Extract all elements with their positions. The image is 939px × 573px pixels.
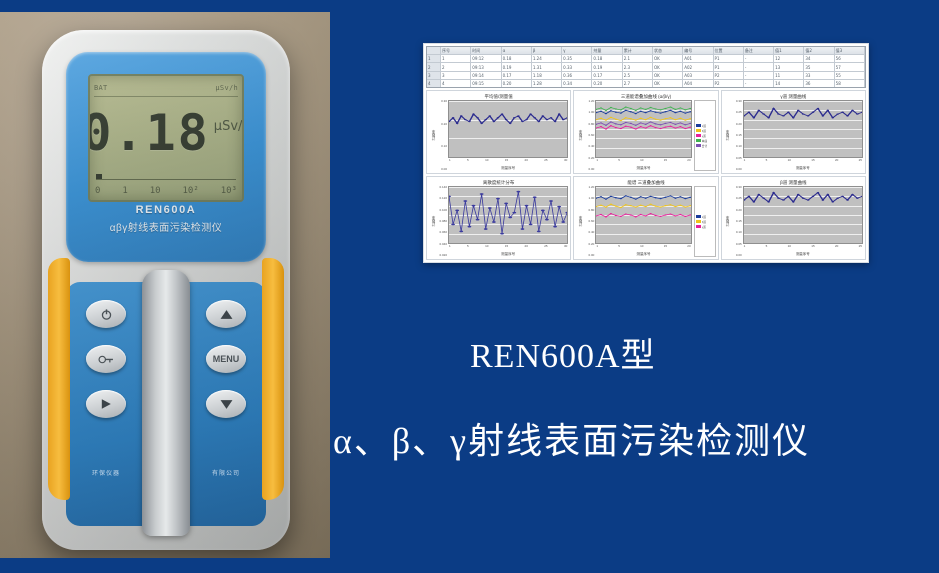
table-cell[interactable]: OK <box>653 80 683 87</box>
chart-data-point <box>605 216 607 217</box>
chart-data-point <box>660 206 662 207</box>
table-cell[interactable]: 58 <box>835 80 865 87</box>
chart-legend-item: β道 <box>696 220 714 224</box>
lcd-reading: 0.18 μSv/h <box>90 96 242 170</box>
chart-data-point <box>650 125 652 126</box>
chart-data-point <box>630 111 632 112</box>
chart-legend-label: β道 <box>702 220 706 224</box>
chart-y-tick: 0.30 <box>736 100 742 103</box>
chart-legend-label: α道 <box>702 215 706 219</box>
chart-data-point <box>484 119 487 120</box>
table-row-header: 1 <box>427 55 441 62</box>
chart-data-point <box>831 201 834 202</box>
chart-x-ticks: 1510152025 <box>743 158 863 165</box>
chart-gridline <box>744 157 862 158</box>
chart-y-tick: 0.80 <box>588 209 594 212</box>
chart-y-tick: 0.40 <box>588 145 594 148</box>
table-cell[interactable]: 1.24 <box>532 55 562 62</box>
chart-y-tick: 0.25 <box>736 197 742 200</box>
chart-data-point <box>468 121 471 122</box>
table-cell[interactable]: P2 <box>714 80 744 87</box>
page-title-model: REN600A型 <box>470 328 910 377</box>
chart-series-line <box>596 204 690 207</box>
chart-data-point <box>655 206 657 207</box>
chart-y-tick: 0.100 <box>439 209 447 212</box>
chart-y-ticks: 0.300.250.200.150.100.050.00 <box>730 186 743 257</box>
chart-data-point <box>675 112 677 113</box>
table-cell[interactable]: 1.18 <box>532 72 562 79</box>
chart-data-point <box>777 198 780 199</box>
chart-data-point <box>480 193 484 195</box>
chart-data-point <box>782 199 785 200</box>
chart-data-point <box>660 128 662 129</box>
chart-data-point <box>675 119 677 120</box>
table-column-header[interactable]: 备注 <box>744 47 774 54</box>
chart-data-point <box>747 196 750 197</box>
table-column-header[interactable]: 编号 <box>683 47 713 54</box>
table-row[interactable]: 3309:140.171.180.360.172.5OKA03P2-113355 <box>427 72 865 80</box>
chart-data-point <box>456 123 459 124</box>
chart-x-axis-label: 测量序号 <box>595 251 691 257</box>
chart-data-point <box>630 123 632 124</box>
table-cell[interactable]: 0.17 <box>502 72 532 79</box>
chart-data-point <box>620 124 622 125</box>
product-photo: BAT μSv/h 0.18 μSv/h 011010²10³ REN600A … <box>0 12 330 558</box>
chart-title: β道 测量曲线 <box>724 179 863 186</box>
chart-data-point <box>488 115 491 116</box>
chart-legend-item: β道 <box>696 129 714 133</box>
table-cell[interactable]: 1 <box>441 55 471 62</box>
data-table[interactable]: 序号时间αβγ剂量累计状态编号位置备注值1值2值31109:120.181.24… <box>426 46 866 88</box>
detector-device: BAT μSv/h 0.18 μSv/h 011010²10³ REN600A … <box>42 30 290 550</box>
chart-data-point <box>517 115 520 116</box>
table-column-header[interactable]: 值3 <box>835 47 865 54</box>
table-cell[interactable]: 09:15 <box>471 80 501 87</box>
chart-legend-label: γ道 <box>702 225 706 229</box>
table-cell[interactable]: A02 <box>683 63 713 70</box>
chart-x-tick: 1 <box>596 244 598 251</box>
chart-data-point <box>811 112 814 113</box>
chart-x-ticks: 151015202530 <box>448 158 568 165</box>
chart-x-ticks: 151015202530 <box>448 244 568 251</box>
chart-y-tick: 0.20 <box>441 123 447 126</box>
chart-data-point <box>640 214 642 215</box>
chart-x-tick: 30 <box>564 158 567 165</box>
chart-legend-swatch <box>696 220 701 223</box>
chart-data-point <box>620 113 622 114</box>
table-cell[interactable]: 35 <box>804 63 834 70</box>
device-description-label: αβγ射线表面污染检测仪 <box>66 219 266 234</box>
table-cell[interactable]: 0.19 <box>502 63 532 70</box>
chart-data-point <box>620 198 622 199</box>
chart-data-point <box>610 204 612 205</box>
chart-plot-wrap: 151015202530测量序号 <box>448 100 568 171</box>
table-cell[interactable]: 2.3 <box>623 63 653 70</box>
chart-data-point <box>680 205 682 206</box>
table-column-header[interactable]: 位置 <box>714 47 744 54</box>
table-cell[interactable]: 34 <box>804 55 834 62</box>
table-cell[interactable]: 0.18 <box>592 55 622 62</box>
chart-x-tick: 20 <box>835 244 838 251</box>
chart-data-point <box>787 112 790 113</box>
table-column-header[interactable]: 时间 <box>471 47 501 54</box>
lcd-scale-tick: 10² <box>183 186 199 196</box>
table-header-row: 序号时间αβγ剂量累计状态编号位置备注值1值2值3 <box>427 47 865 55</box>
table-column-header[interactable]: 序号 <box>441 47 471 54</box>
table-cell[interactable]: 2.7 <box>623 80 653 87</box>
chart-panel[interactable]: 平均值/测量值计数率0.300.200.100.00151015202530测量… <box>426 90 571 174</box>
chart-data-point <box>630 197 632 198</box>
chart-y-tick: 0.00 <box>736 254 742 257</box>
chart-data-point <box>600 196 602 197</box>
lcd-scale-tick: 10 <box>150 186 161 196</box>
table-cell[interactable]: P2 <box>714 72 744 79</box>
chart-data-point <box>665 127 667 128</box>
chart-legend-swatch <box>696 124 701 127</box>
chart-gridline <box>744 243 862 244</box>
table-cell[interactable]: 57 <box>835 63 865 70</box>
chart-data-point <box>792 201 795 202</box>
chart-x-tick: 1 <box>596 158 598 165</box>
table-cell[interactable]: 36 <box>804 80 834 87</box>
chart-data-point <box>851 194 854 195</box>
table-cell[interactable]: - <box>744 80 774 87</box>
chart-y-tick: 0.60 <box>588 220 594 223</box>
table-cell[interactable]: 3 <box>441 72 471 79</box>
chart-data-point <box>747 112 750 113</box>
keypad: MENU <box>66 298 266 428</box>
chart-data-point <box>655 108 657 109</box>
table-cell[interactable]: 0.35 <box>562 55 592 62</box>
chart-y-tick: 1.00 <box>588 197 594 200</box>
table-cell[interactable]: 0.34 <box>562 80 592 87</box>
table-cell[interactable]: P1 <box>714 63 744 70</box>
chart-data-point <box>521 228 525 230</box>
chart-data-point <box>660 113 662 114</box>
chart-y-tick: 0.120 <box>439 197 447 200</box>
chart-plot-area <box>595 186 691 244</box>
chart-data-point <box>645 112 647 113</box>
chart-data-point <box>600 111 602 112</box>
lcd-scale-ticks: 011010²10³ <box>95 184 237 198</box>
table-cell[interactable]: 55 <box>835 72 865 79</box>
chart-legend-item: α道 <box>696 124 714 128</box>
table-cell[interactable]: 33 <box>804 72 834 79</box>
chart-y-ticks: 0.300.200.100.00 <box>435 100 448 171</box>
chart-data-point <box>600 126 602 127</box>
play-button[interactable] <box>86 390 126 418</box>
table-row-header: 3 <box>427 72 441 79</box>
chart-data-point <box>476 219 480 221</box>
chart-data-point <box>680 118 682 119</box>
table-cell[interactable]: - <box>744 55 774 62</box>
table-cell[interactable]: A03 <box>683 72 713 79</box>
chart-x-tick: 15 <box>664 158 667 165</box>
chart-data-point <box>675 206 677 207</box>
table-cell[interactable]: 0.33 <box>562 63 592 70</box>
lcd-scale-tick: 10³ <box>221 186 237 196</box>
chart-legend[interactable]: α道β道γ道 <box>694 186 716 257</box>
table-cell[interactable]: 1.31 <box>532 63 562 70</box>
chart-data-point <box>500 233 504 235</box>
chart-y-tick: 0.080 <box>439 220 447 223</box>
chart-y-tick: 0.020 <box>439 254 447 257</box>
chart-x-tick: 5 <box>766 244 768 251</box>
table-cell[interactable]: 4 <box>441 80 471 87</box>
chart-y-tick: 0.25 <box>736 111 742 114</box>
chart-data-point <box>620 109 622 110</box>
chart-y-tick: 1.00 <box>588 111 594 114</box>
chart-data-point <box>846 115 849 116</box>
chart-data-point <box>472 205 476 207</box>
chart-body: 计数率0.300.250.200.150.100.050.00151015202… <box>724 186 863 257</box>
chart-x-tick: 15 <box>811 244 814 251</box>
chart-data-point <box>655 123 657 124</box>
chart-data-point <box>533 117 536 118</box>
table-cell[interactable]: 1.28 <box>532 80 562 87</box>
chart-data-point <box>625 213 627 214</box>
table-column-header[interactable]: 累计 <box>623 47 653 54</box>
chart-data-point <box>645 109 647 110</box>
chart-data-point <box>635 113 637 114</box>
chart-data-point <box>836 113 839 114</box>
chart-y-tick: 1.20 <box>588 186 594 189</box>
chart-x-tick: 1 <box>744 158 746 165</box>
table-cell[interactable]: 2.1 <box>623 55 653 62</box>
table-column-header[interactable]: 值1 <box>774 47 804 54</box>
table-cell[interactable]: - <box>744 72 774 79</box>
chart-x-tick: 15 <box>811 158 814 165</box>
key-icon <box>98 354 114 365</box>
chart-body: 计数率0.300.250.200.150.100.050.00151015202… <box>724 100 863 171</box>
power-button[interactable] <box>86 300 126 328</box>
chart-series-layer <box>596 101 690 157</box>
chart-plot-wrap: 1510152025测量序号 <box>743 186 863 257</box>
table-column-header[interactable]: 剂量 <box>592 47 622 54</box>
chart-data-point <box>802 198 805 199</box>
table-row-header: 4 <box>427 80 441 87</box>
chart-y-tick: 0.00 <box>736 168 742 171</box>
table-cell[interactable]: 11 <box>774 72 804 79</box>
chart-y-tick: 0.10 <box>736 145 742 148</box>
chart-x-tick: 20 <box>525 158 528 165</box>
chart-legend-item: α道 <box>696 215 714 219</box>
chart-data-point <box>650 107 652 108</box>
table-cell[interactable]: 0.19 <box>592 63 622 70</box>
chart-y-tick: 0.05 <box>736 157 742 160</box>
chart-plot-wrap: 15101520测量序号 <box>595 186 691 257</box>
table-cell[interactable]: 09:12 <box>471 55 501 62</box>
down-button[interactable] <box>206 390 246 418</box>
table-row[interactable]: 4409:150.201.280.340.202.7OKA04P2-143658 <box>427 80 865 87</box>
chart-y-tick: 0.040 <box>439 243 447 246</box>
table-cell[interactable]: A01 <box>683 55 713 62</box>
chart-legend-label: 合计 <box>702 144 708 148</box>
chart-data-point <box>675 109 677 110</box>
chart-data-point <box>521 121 524 122</box>
table-row[interactable]: 1109:120.181.240.350.182.1OKA01P1-123456 <box>427 55 865 63</box>
chart-data-point <box>826 110 829 111</box>
chart-data-point <box>615 206 617 207</box>
chart-data-point <box>685 198 687 199</box>
table-cell[interactable]: - <box>744 63 774 70</box>
chart-data-point <box>620 120 622 121</box>
chart-y-tick: 0.60 <box>588 134 594 137</box>
chart-data-point <box>777 113 780 114</box>
chart-data-point <box>610 110 612 111</box>
chart-data-point <box>660 120 662 121</box>
table-cell[interactable]: 2.5 <box>623 72 653 79</box>
table-cell[interactable]: OK <box>653 63 683 70</box>
table-cell[interactable]: 13 <box>774 63 804 70</box>
triangle-up-icon <box>220 309 233 320</box>
chart-data-point <box>625 195 627 196</box>
chart-data-point <box>811 196 814 197</box>
table-cell[interactable]: OK <box>653 55 683 62</box>
table-row[interactable]: 2209:130.191.310.330.192.3OKA02P1-133557 <box>427 63 865 71</box>
chart-legend-label: γ道 <box>702 134 706 138</box>
chart-data-point <box>533 196 537 198</box>
chart-legend-label: 本底 <box>702 139 708 143</box>
chart-data-point <box>610 121 612 122</box>
chart-x-tick: 1 <box>744 244 746 251</box>
chart-x-ticks: 15101520 <box>595 244 691 251</box>
chart-series-line <box>596 117 690 120</box>
chart-y-tick: 0.40 <box>588 231 594 234</box>
chart-legend-swatch <box>696 225 701 228</box>
chart-legend-item: 本底 <box>696 139 714 143</box>
chart-y-ticks: 0.300.250.200.150.100.050.00 <box>730 100 743 171</box>
chart-data-point <box>493 121 496 122</box>
table-column-header[interactable]: 值2 <box>804 47 834 54</box>
chart-x-tick: 10 <box>485 158 488 165</box>
table-cell[interactable]: OK <box>653 72 683 79</box>
chart-data-point <box>625 122 627 123</box>
table-column-header[interactable]: α <box>502 47 532 54</box>
table-cell[interactable]: 0.20 <box>502 80 532 87</box>
chart-data-point <box>529 113 532 114</box>
chart-data-point <box>846 199 849 200</box>
chart-data-point <box>680 111 682 112</box>
chart-panel[interactable]: γ道 测量曲线计数率0.300.250.200.150.100.050.0015… <box>721 90 866 174</box>
menu-button[interactable]: MENU <box>206 345 246 373</box>
chart-data-point <box>802 113 805 114</box>
chart-panel[interactable]: 三道能谱叠加曲线 (α/β/γ)计数率1.201.000.800.600.400… <box>573 90 718 174</box>
table-column-header[interactable]: γ <box>562 47 592 54</box>
chart-data-point <box>635 120 637 121</box>
table-cell[interactable]: 0.36 <box>562 72 592 79</box>
table-cell[interactable]: P1 <box>714 55 744 62</box>
table-column-header[interactable]: 状态 <box>653 47 683 54</box>
software-screenshot-panel: 序号时间αβγ剂量累计状态编号位置备注值1值2值31109:120.181.24… <box>423 43 869 263</box>
chart-y-ticks: 0.1400.1200.1000.0800.0600.0400.020 <box>435 186 448 257</box>
chart-data-point <box>610 117 612 118</box>
chart-data-point <box>620 216 622 217</box>
chart-plot-area <box>448 186 568 244</box>
chart-y-ticks: 1.201.000.800.600.400.200.00 <box>582 100 595 171</box>
chart-series-line <box>449 114 567 123</box>
chart-data-point <box>561 221 565 223</box>
chart-plot-area <box>448 100 568 158</box>
lcd-status-bar: BAT μSv/h <box>94 79 238 97</box>
chart-data-point <box>542 115 545 116</box>
chart-data-point <box>620 128 622 129</box>
chart-legend-item: γ道 <box>696 134 714 138</box>
up-button[interactable] <box>206 300 246 328</box>
chart-data-point <box>600 107 602 108</box>
chart-data-point <box>541 209 545 211</box>
chart-data-point <box>685 216 687 217</box>
chart-y-tick: 0.30 <box>441 100 447 103</box>
table-cell[interactable]: 2 <box>441 63 471 70</box>
table-cell[interactable]: 12 <box>774 55 804 62</box>
table-cell[interactable]: 09:14 <box>471 72 501 79</box>
chart-data-point <box>782 115 785 116</box>
chart-data-point <box>841 196 844 197</box>
chart-data-point <box>504 202 508 204</box>
chart-body: 计数率1.201.000.800.600.400.200.0015101520测… <box>576 186 715 257</box>
chart-panel[interactable]: β道 测量曲线计数率0.300.250.200.150.100.050.0015… <box>721 176 866 260</box>
chart-data-point <box>680 107 682 108</box>
chart-x-tick: 15 <box>505 158 508 165</box>
chart-data-point <box>484 228 488 230</box>
chart-data-point <box>640 111 642 112</box>
chart-data-point <box>640 126 642 127</box>
chart-data-point <box>635 206 637 207</box>
chart-data-point <box>625 126 627 127</box>
chart-series-layer <box>744 187 862 243</box>
chart-x-tick: 20 <box>525 244 528 251</box>
chart-data-point <box>565 212 567 214</box>
chart-data-point <box>665 123 667 124</box>
key-button[interactable] <box>86 345 126 373</box>
chart-gridline <box>596 243 690 244</box>
chart-data-point <box>670 122 672 123</box>
chart-data-point <box>856 113 859 114</box>
chart-data-point <box>537 230 541 232</box>
chart-legend[interactable]: α道β道γ道本底合计 <box>694 100 716 171</box>
chart-data-point <box>460 115 463 116</box>
chart-data-point <box>757 194 760 195</box>
chart-data-point <box>605 128 607 129</box>
chart-gridline <box>449 157 567 158</box>
chart-plot-wrap: 151015202530测量序号 <box>448 186 568 257</box>
chart-body: 计数率1.201.000.800.600.400.200.0015101520测… <box>576 100 715 171</box>
chart-series-line <box>596 214 690 217</box>
chart-data-point <box>757 110 760 111</box>
chart-data-point <box>529 223 533 225</box>
table-cell[interactable]: 09:13 <box>471 63 501 70</box>
table-cell[interactable]: 14 <box>774 80 804 87</box>
table-cell[interactable]: A04 <box>683 80 713 87</box>
chart-panel[interactable]: 离散度统计分布计数率0.1400.1200.1000.0800.0600.040… <box>426 176 571 260</box>
chart-data-point <box>516 191 520 193</box>
table-cell[interactable]: 0.17 <box>592 72 622 79</box>
chart-legend-swatch <box>696 134 701 137</box>
table-cell[interactable]: 0.20 <box>592 80 622 87</box>
chart-x-tick: 5 <box>467 158 469 165</box>
table-cell[interactable]: 56 <box>835 55 865 62</box>
chart-data-point <box>767 117 770 118</box>
chart-y-tick: 0.140 <box>439 186 447 189</box>
chart-panel[interactable]: 能谱 三道叠加曲线计数率1.201.000.800.600.400.200.00… <box>573 176 718 260</box>
chart-data-point <box>675 215 677 216</box>
chart-plot-area <box>743 186 863 244</box>
chart-data-point <box>600 122 602 123</box>
table-cell[interactable]: 0.18 <box>502 55 532 62</box>
chart-data-point <box>665 214 667 215</box>
table-column-header[interactable]: β <box>532 47 562 54</box>
